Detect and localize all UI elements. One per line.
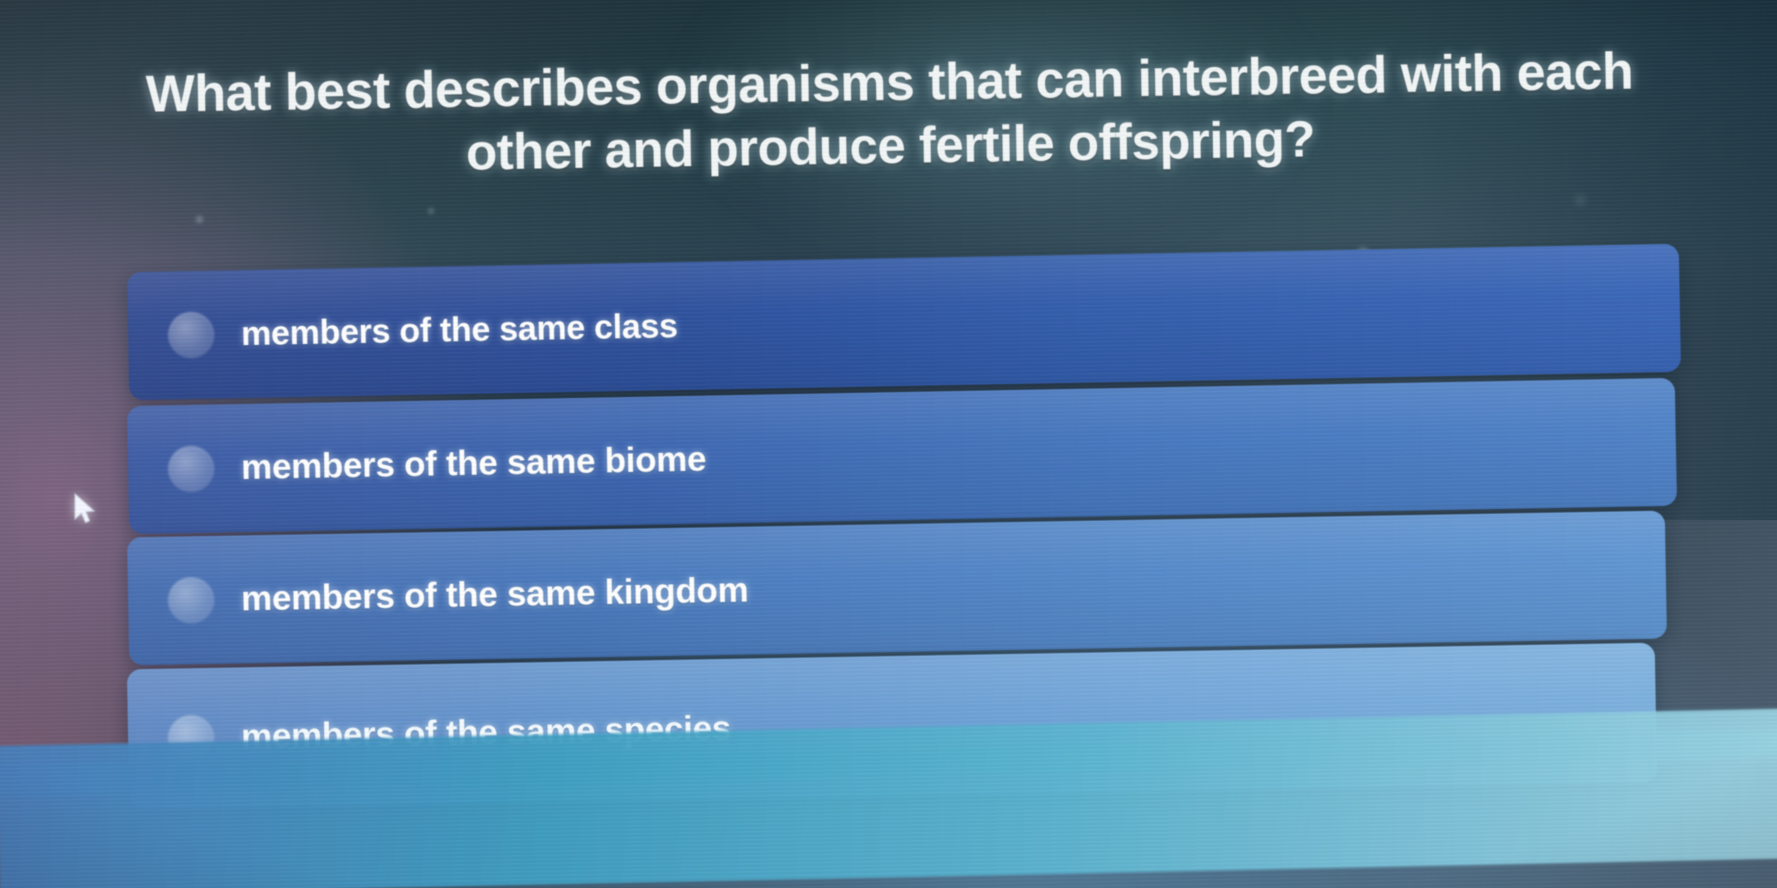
- answer-option-class[interactable]: members of the same class: [127, 244, 1681, 400]
- mouse-cursor-icon: [72, 492, 98, 526]
- radio-button-icon[interactable]: [168, 577, 215, 624]
- answer-option-label: members of the same biome: [241, 440, 707, 489]
- answer-option-kingdom[interactable]: members of the same kingdom: [127, 511, 1667, 666]
- answer-option-label: members of the same class: [241, 307, 678, 354]
- answer-option-label: members of the same kingdom: [241, 571, 749, 620]
- answer-option-biome[interactable]: members of the same biome: [127, 378, 1677, 534]
- radio-button-icon[interactable]: [168, 446, 215, 493]
- radio-button-icon[interactable]: [168, 312, 215, 359]
- quiz-screen-photo: What best describes organisms that can i…: [0, 0, 1777, 888]
